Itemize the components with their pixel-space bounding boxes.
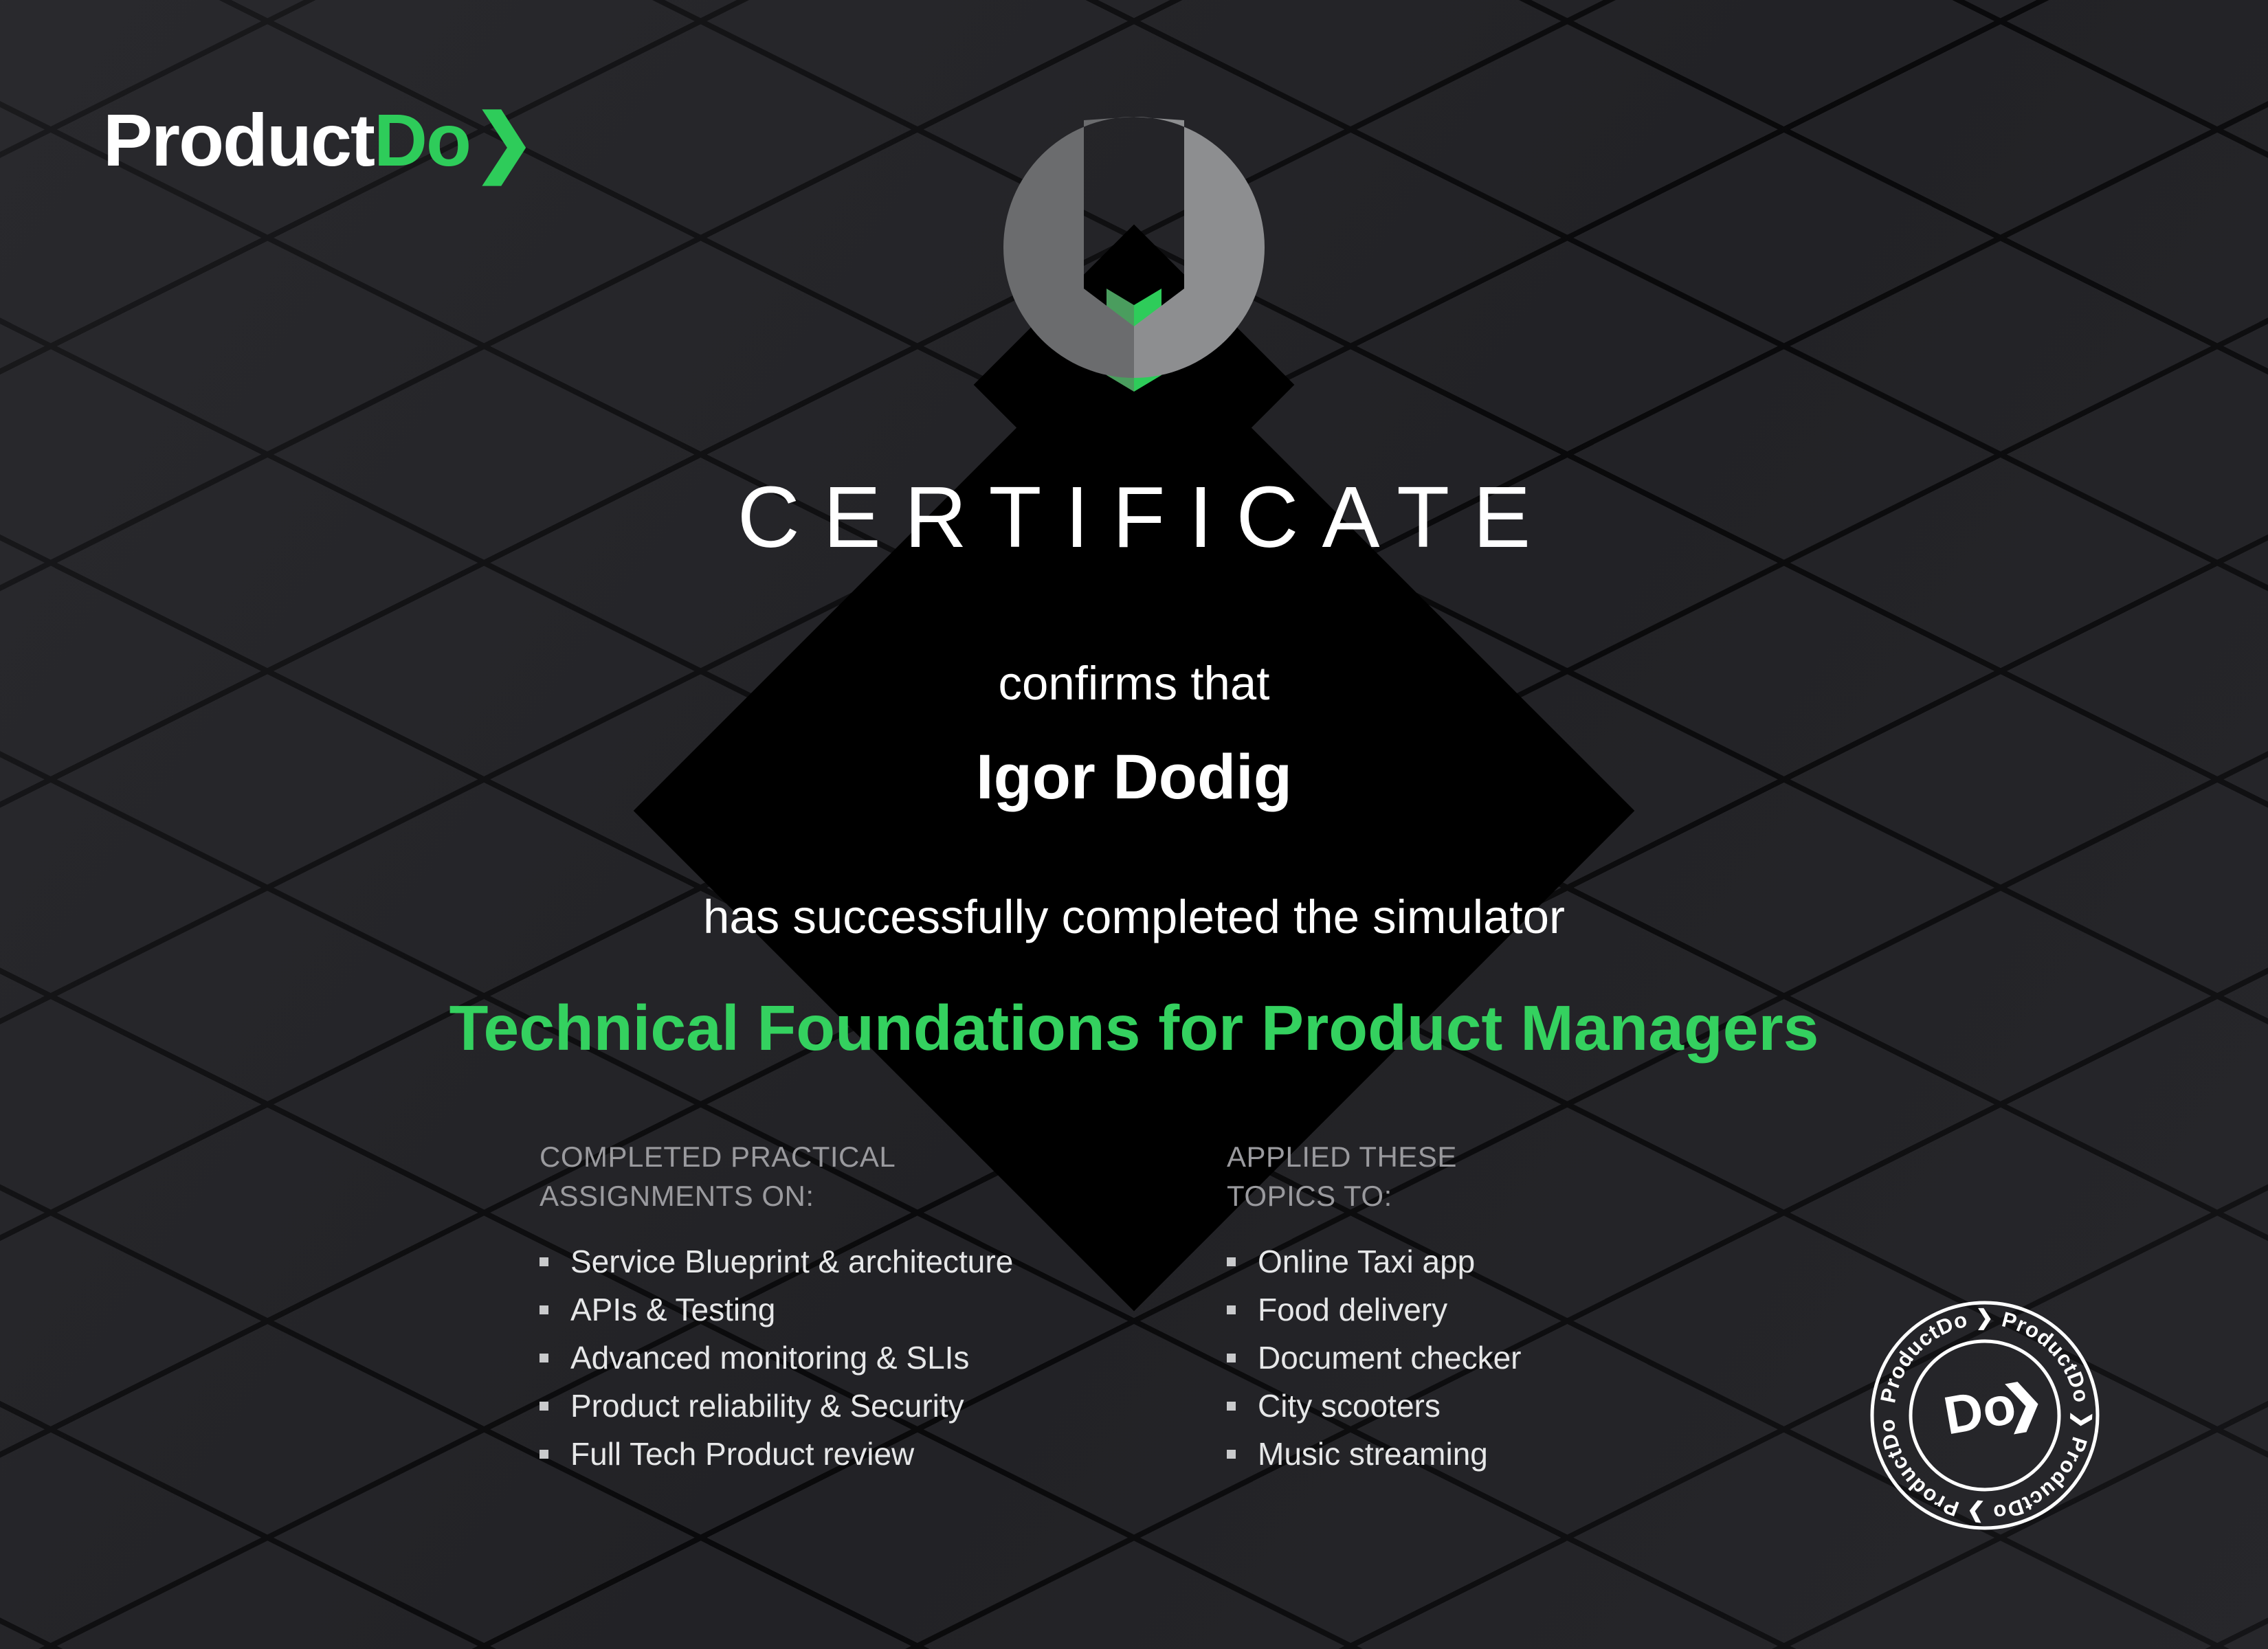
logo-primary-text: Product bbox=[103, 98, 374, 181]
square-bullet-icon bbox=[540, 1354, 548, 1362]
list-item-label: Online Taxi app bbox=[1258, 1244, 1475, 1279]
list-item-label: Product reliability & Security bbox=[570, 1388, 964, 1424]
topics-list: Online Taxi app Food delivery Document c… bbox=[1227, 1246, 1708, 1470]
wrench-icon bbox=[1003, 117, 1265, 460]
column-topics-heading: APPLIED THESE TOPICS TO: bbox=[1227, 1137, 1708, 1215]
logo-accent-text: Do bbox=[374, 98, 470, 181]
square-bullet-icon bbox=[1227, 1402, 1236, 1411]
list-item: Music streaming bbox=[1227, 1438, 1708, 1470]
list-item-label: Music streaming bbox=[1258, 1436, 1488, 1472]
seal-stamp: ProductDo ❯ ProductDo ❯ ProductDo ❯ Prod… bbox=[1868, 1299, 2102, 1532]
logo-chevron-icon: ❯ bbox=[473, 104, 534, 179]
square-bullet-icon bbox=[540, 1257, 548, 1266]
confirms-label: confirms that bbox=[0, 660, 2268, 707]
list-item-label: City scooters bbox=[1258, 1388, 1441, 1424]
square-bullet-icon bbox=[1227, 1354, 1236, 1362]
assignments-list: Service Blueprint & architecture APIs & … bbox=[540, 1246, 1227, 1470]
list-item-label: Food delivery bbox=[1258, 1292, 1447, 1327]
column-assignments: COMPLETED PRACTICAL ASSIGNMENTS ON: Serv… bbox=[540, 1137, 1227, 1486]
square-bullet-icon bbox=[1227, 1305, 1236, 1314]
list-item: Advanced monitoring & SLIs bbox=[540, 1342, 1227, 1373]
square-bullet-icon bbox=[1227, 1257, 1236, 1266]
list-item-label: Document checker bbox=[1258, 1340, 1522, 1376]
svg-text:❯: ❯ bbox=[1998, 1372, 2049, 1435]
square-bullet-icon bbox=[1227, 1450, 1236, 1459]
completion-line: has successfully completed the simulator bbox=[0, 893, 2268, 941]
list-item: Full Tech Product review bbox=[540, 1438, 1227, 1470]
list-item: Food delivery bbox=[1227, 1294, 1708, 1325]
detail-columns: COMPLETED PRACTICAL ASSIGNMENTS ON: Serv… bbox=[540, 1137, 1708, 1486]
list-item-label: Full Tech Product review bbox=[570, 1436, 914, 1472]
list-item: City scooters bbox=[1227, 1390, 1708, 1422]
list-item: Document checker bbox=[1227, 1342, 1708, 1373]
certificate-canvas: ProductDo❯ CERTIFICATE confirms that Igo… bbox=[0, 0, 2268, 1649]
course-title: Technical Foundations for Product Manage… bbox=[0, 996, 2268, 1060]
list-item: Product reliability & Security bbox=[540, 1390, 1227, 1422]
recipient-name: Igor Dodig bbox=[0, 745, 2268, 809]
square-bullet-icon bbox=[540, 1305, 548, 1314]
page-title: CERTIFICATE bbox=[0, 474, 2268, 561]
square-bullet-icon bbox=[540, 1450, 548, 1459]
brand-logo: ProductDo❯ bbox=[103, 103, 533, 179]
list-item: Service Blueprint & architecture bbox=[540, 1246, 1227, 1277]
list-item-label: Advanced monitoring & SLIs bbox=[570, 1340, 969, 1376]
list-item-label: APIs & Testing bbox=[570, 1292, 775, 1327]
list-item: APIs & Testing bbox=[540, 1294, 1227, 1325]
list-item-label: Service Blueprint & architecture bbox=[570, 1244, 1013, 1279]
column-topics: APPLIED THESE TOPICS TO: Online Taxi app… bbox=[1227, 1137, 1708, 1486]
square-bullet-icon bbox=[540, 1402, 548, 1411]
list-item: Online Taxi app bbox=[1227, 1246, 1708, 1277]
column-assignments-heading: COMPLETED PRACTICAL ASSIGNMENTS ON: bbox=[540, 1137, 1227, 1215]
